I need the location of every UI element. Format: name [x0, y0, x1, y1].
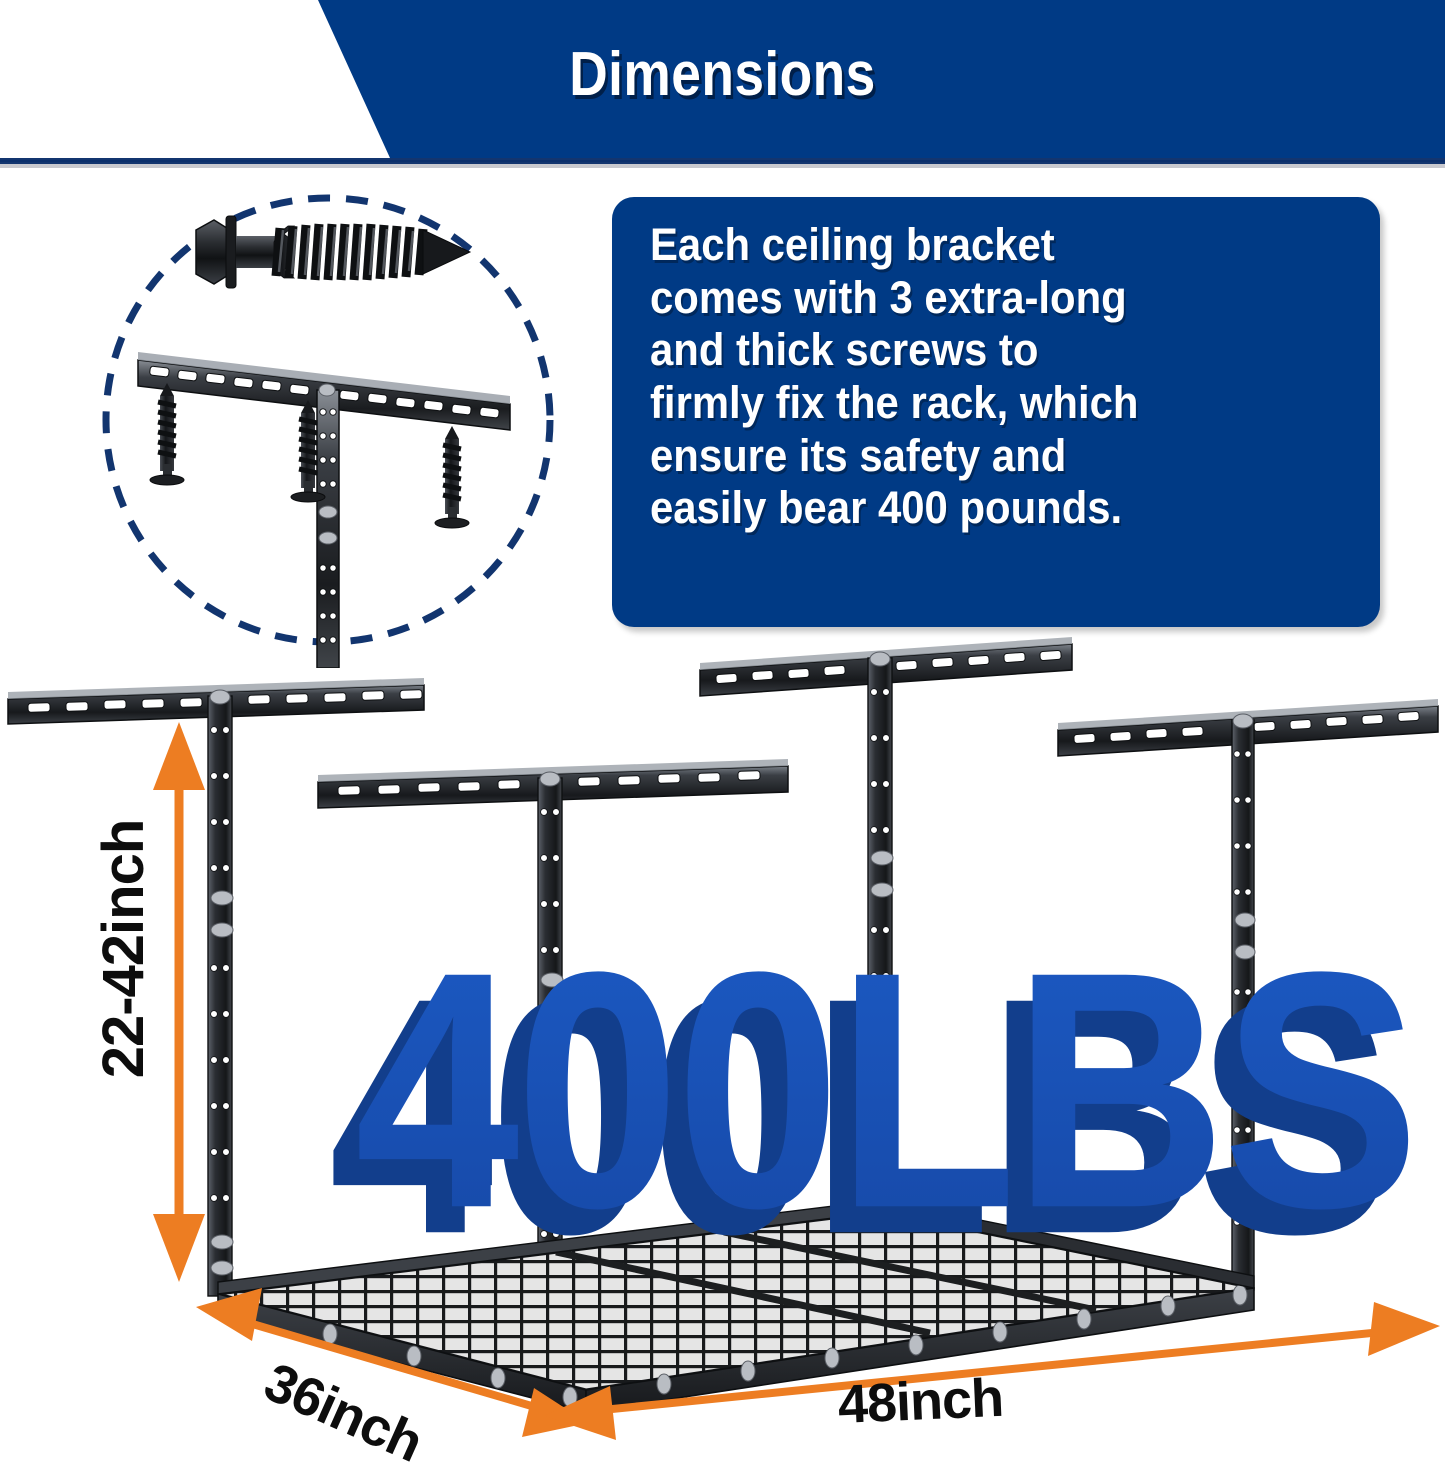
header-banner: Dimensions: [0, 0, 1445, 158]
header-divider-navy-inner: [0, 160, 1445, 162]
callout-line-2: comes with 3 extra-long: [650, 272, 1301, 325]
height-dimension-label: 22-42inch: [95, 819, 153, 1079]
callout-line-4: firmly fix the rack, which: [650, 377, 1301, 430]
callout-line-5: ensure its safety and: [650, 430, 1301, 483]
callout-line-1: Each ceiling bracket: [650, 219, 1301, 272]
screw-icon-right: [435, 426, 469, 528]
page-title: Dimensions: [101, 44, 1344, 106]
ceiling-bracket-1: [8, 678, 424, 1296]
bracket-detail-inset: [78, 168, 578, 668]
screw-icon-left: [150, 383, 184, 485]
callout-line-6: easily bear 400 pounds.: [650, 482, 1301, 535]
lag-screw-icon: [196, 216, 470, 288]
callout-line-3: and thick screws to: [650, 324, 1301, 377]
width-dimension-label: 48inch: [837, 1371, 1004, 1432]
wire-mesh-deck: [218, 1200, 1254, 1412]
ceiling-rack-illustration: [0, 600, 1445, 1441]
header-divider: [0, 158, 1445, 168]
ceiling-bracket-3: [700, 637, 1072, 1218]
info-callout-box: Each ceiling bracketcomes with 3 extra-l…: [612, 197, 1380, 627]
ceiling-bracket-4: [1058, 699, 1438, 1290]
infographic-canvas: Dimensions: [0, 0, 1445, 1441]
callout-text: Each ceiling bracketcomes with 3 extra-l…: [650, 219, 1301, 535]
